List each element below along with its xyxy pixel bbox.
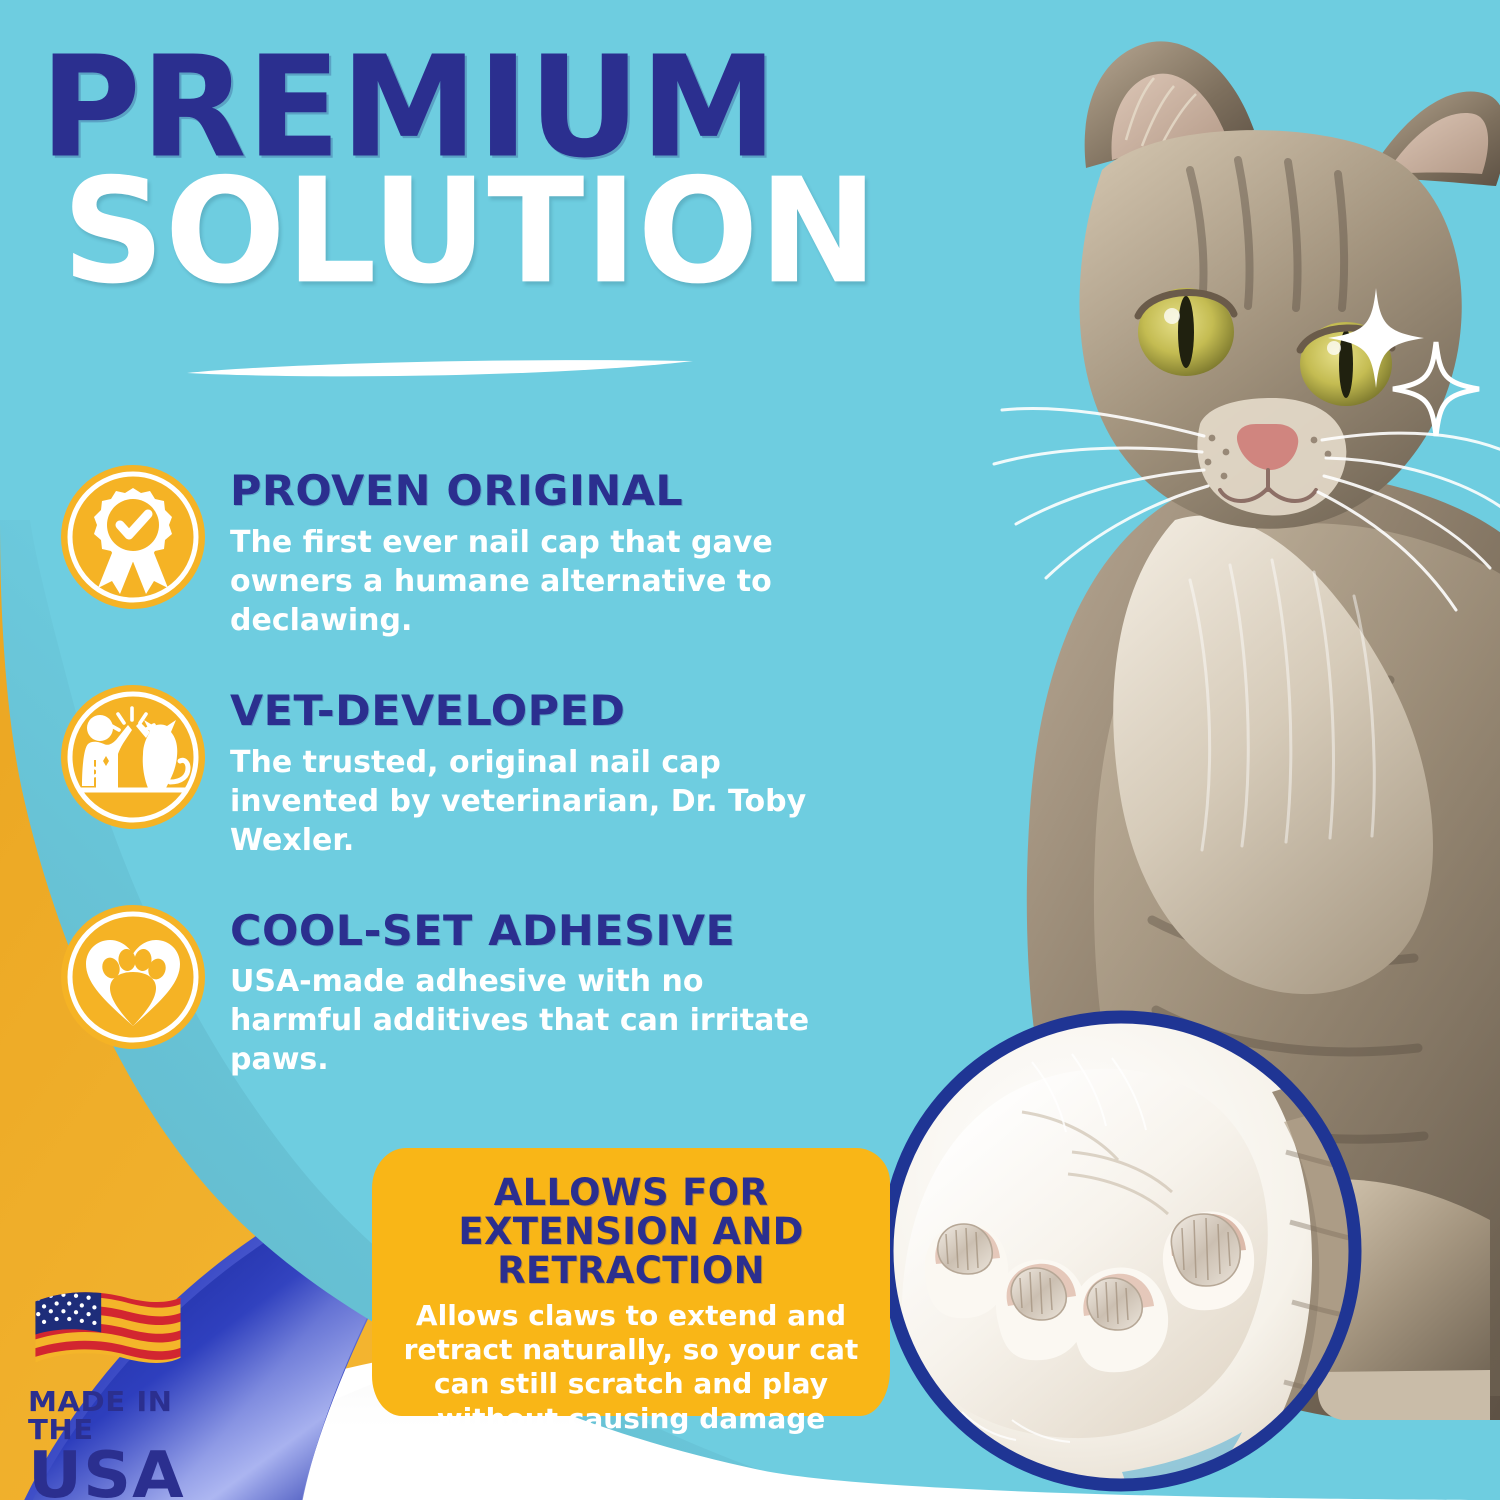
feature-title: PROVEN ORIGINAL: [230, 470, 891, 513]
feature-body: The first ever nail cap that gave owners…: [230, 523, 840, 640]
product-infographic: MADE IN THE USA: [0, 0, 1500, 1500]
heart-paw-badge: [58, 902, 208, 1052]
feature-text: VET-DEVELOPED The trusted, original nail…: [230, 682, 878, 860]
feature-text: COOL-SET ADHESIVE USA-made adhesive with…: [230, 902, 878, 1080]
cat-left-eye: [1138, 288, 1234, 376]
sparkle-outline-icon: [1393, 342, 1479, 436]
heart-paw-icon: [58, 902, 208, 1052]
cat-paw-closeup-inset: [872, 1002, 1370, 1500]
usa-badge-line2: USA: [28, 1446, 236, 1500]
feature-item: PROVEN ORIGINAL The first ever nail cap …: [58, 462, 878, 640]
vet-high-five-cat-badge: [58, 682, 208, 832]
headline-line2: SOLUTION: [62, 170, 995, 295]
usa-flag-icon: [28, 1288, 186, 1380]
award-ribbon-check-badge: [58, 462, 208, 612]
feature-item: COOL-SET ADHESIVE USA-made adhesive with…: [58, 902, 878, 1080]
callout-title: ALLOWS FOR EXTENSION AND RETRACTION: [396, 1174, 866, 1291]
vet-high-five-cat-icon: [58, 682, 208, 832]
feature-body: USA-made adhesive with no harmful additi…: [230, 962, 840, 1079]
feature-title: VET-DEVELOPED: [230, 690, 891, 733]
lens-divider-icon: [185, 358, 695, 380]
extension-retraction-callout: ALLOWS FOR EXTENSION AND RETRACTION Allo…: [372, 1148, 890, 1416]
headline-block: PREMIUM SOLUTION: [40, 48, 880, 277]
feature-list: PROVEN ORIGINAL The first ever nail cap …: [58, 462, 878, 1079]
sparkle-stars-decoration: [1320, 280, 1490, 450]
usa-badge-line1: MADE IN THE: [28, 1388, 236, 1444]
award-ribbon-check-icon: [58, 462, 208, 612]
feature-title: COOL-SET ADHESIVE: [230, 910, 891, 953]
feature-text: PROVEN ORIGINAL The first ever nail cap …: [230, 462, 878, 640]
made-in-usa-badge: MADE IN THE USA: [28, 1288, 228, 1500]
sparkle-filled-icon: [1328, 288, 1424, 388]
feature-item: VET-DEVELOPED The trusted, original nail…: [58, 682, 878, 860]
feature-body: The trusted, original nail cap invented …: [230, 743, 840, 860]
callout-body: Allows claws to extend and retract natur…: [396, 1299, 866, 1437]
